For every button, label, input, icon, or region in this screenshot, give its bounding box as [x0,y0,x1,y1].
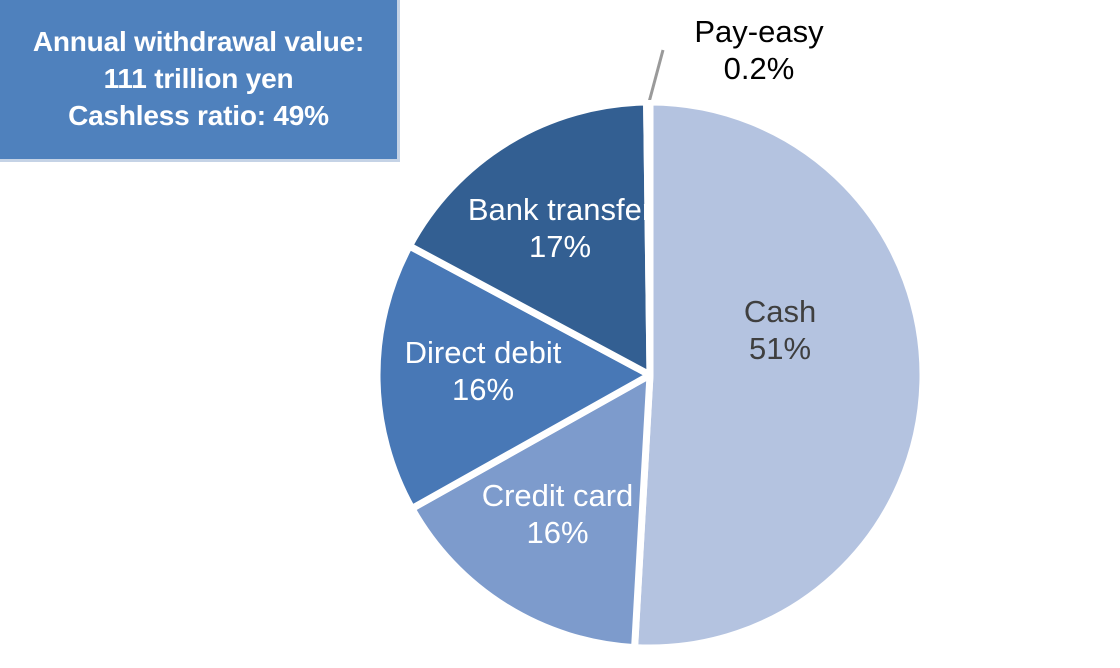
slice-label-pay-easy-value: 0.2% [664,51,854,88]
pie-svg [375,100,925,650]
pie-slice-pay-easy [647,102,650,375]
annotation-callout-box: Annual withdrawal value: 111 trillion ye… [0,0,400,162]
callout-line-1: Annual withdrawal value: [33,25,364,60]
pie-slice-cash [635,102,923,648]
pie-plot-area [375,100,925,650]
slice-label-pay-easy: Pay-easy 0.2% [664,14,854,87]
callout-line-3: Cashless ratio: 49% [68,99,329,134]
slice-label-pay-easy-name: Pay-easy [664,14,854,51]
pie-chart-figure: Annual withdrawal value: 111 trillion ye… [0,0,1120,668]
callout-line-2: 111 trillion yen [104,62,294,97]
